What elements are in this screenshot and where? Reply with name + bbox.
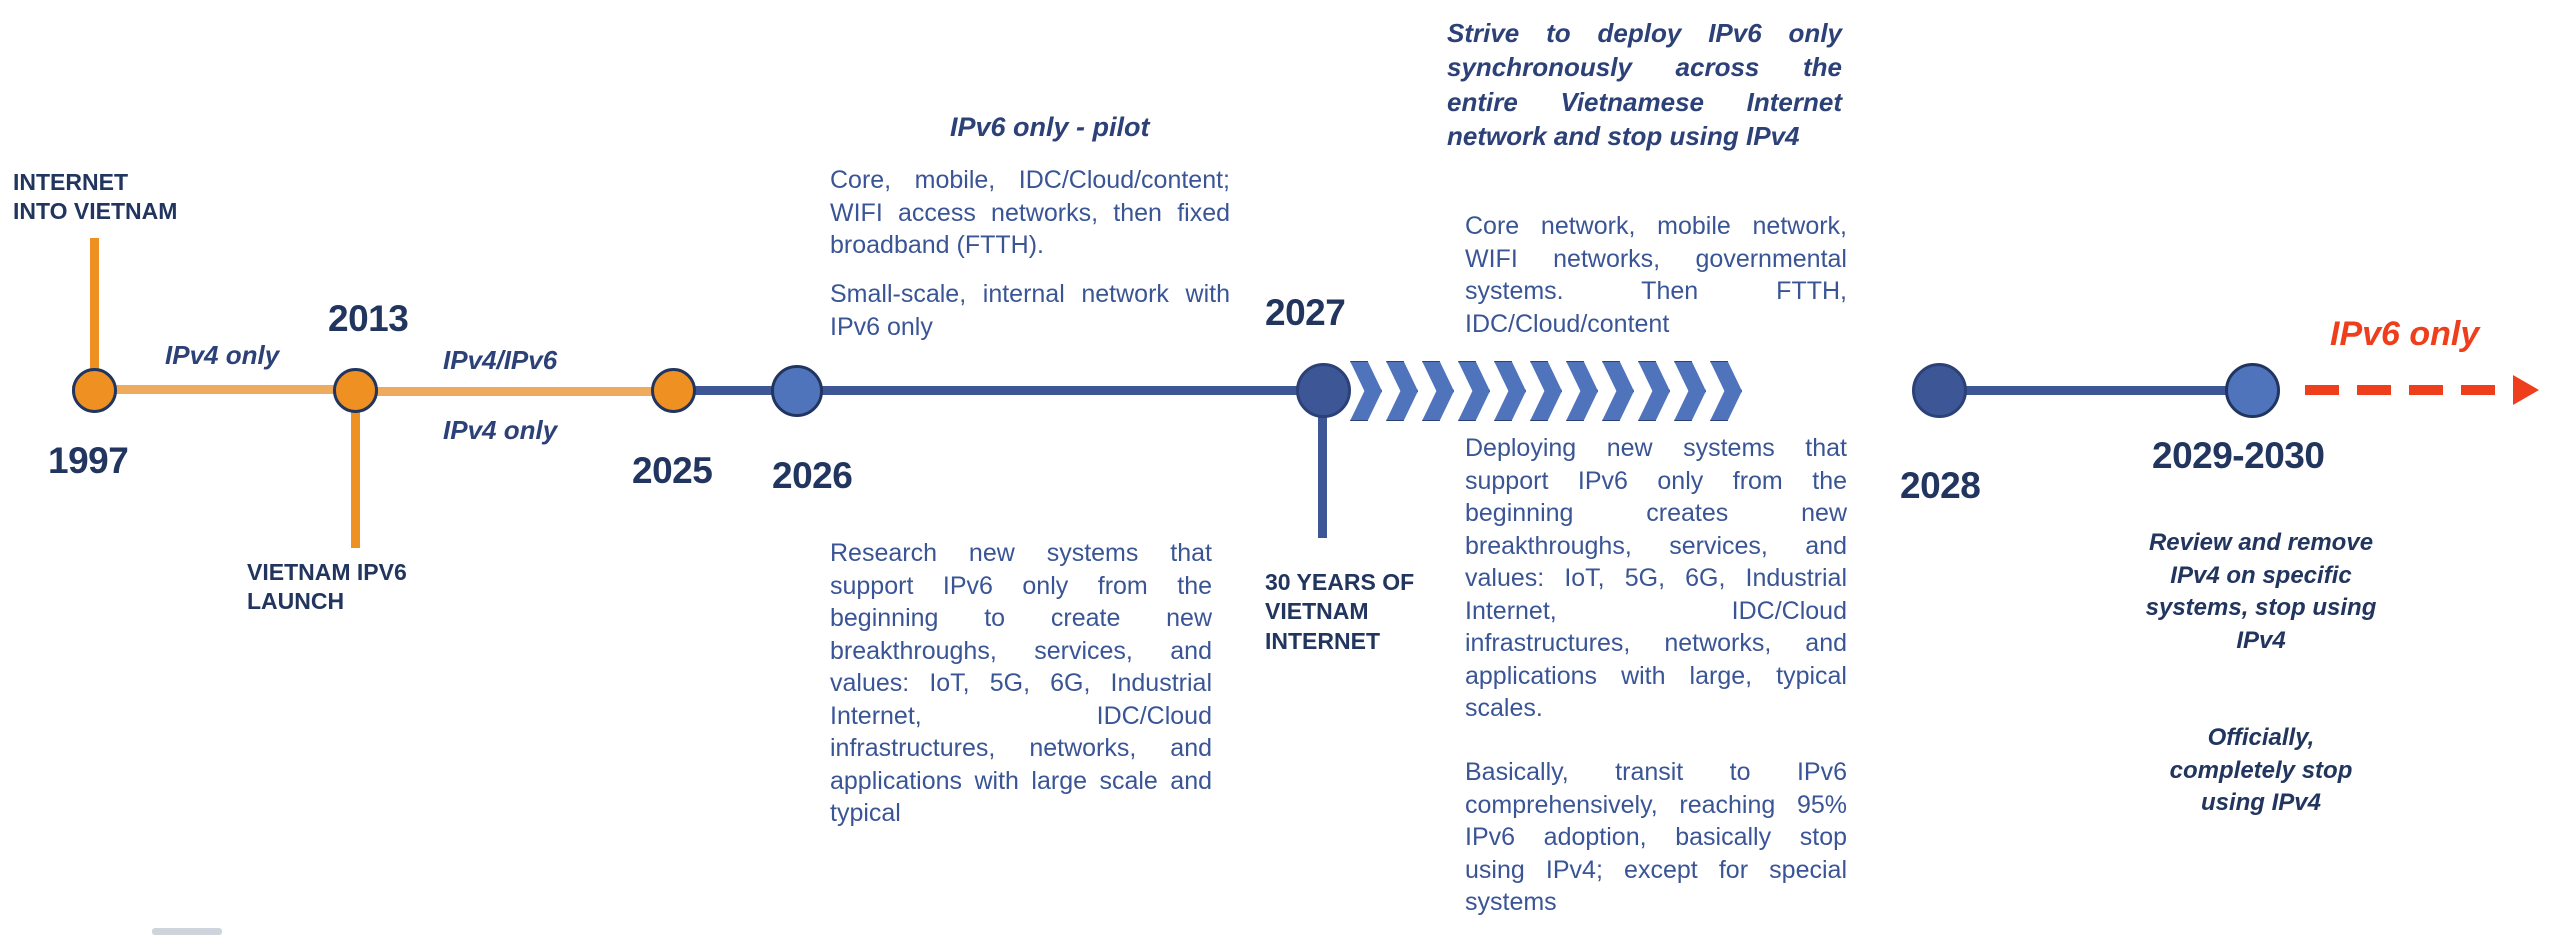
rail-label-ipv4-ipv6: IPv4/IPv6 [443,345,557,376]
rail-2026-2027 [790,386,1330,395]
node-2027[interactable] [1296,363,1351,418]
node-2029-2030[interactable] [2225,363,2280,418]
year-label-2029-2030: 2029-2030 [2152,435,2324,477]
chevron-arrow-icon [1458,361,1490,421]
rail-label-ipv4-only-left: IPv4 only [165,340,279,371]
year-label-2027: 2027 [1265,292,1345,334]
year-label-2025: 2025 [632,450,712,492]
chevron-arrow-icon [1386,361,1418,421]
year-label-2013: 2013 [328,298,408,340]
chevron-arrow-icon [1530,361,1562,421]
chevron-arrow-icon [1494,361,1526,421]
pilot-block-paragraph-1: Core, mobile, IDC/Cloud/content; WIFI ac… [830,164,1230,262]
year-label-1997: 1997 [48,440,128,482]
rail-2028-2029 [1960,386,2250,395]
year-label-2028: 2028 [1900,465,1980,507]
y2027-paragraph-2: Deploying new systems that support IPv6 … [1465,432,1847,725]
node-2025[interactable] [651,368,696,413]
dashed-arrow-icon [2305,375,2539,405]
node-2013[interactable] [333,368,378,413]
node-2028[interactable] [1912,363,1967,418]
rail-label-ipv4-only-right: IPv4 only [443,415,557,446]
callout-vietnam-ipv6-launch: VIETNAM IPV6 LAUNCH [247,558,547,617]
callout-30-years-vietnam-internet: 30 YEARS OF VIETNAM INTERNET [1265,568,1485,656]
rail-2013-2025 [352,387,682,396]
pilot-block-paragraph-2: Small-scale, internal network with IPv6 … [830,278,1230,343]
chevron-arrow-icon [1710,361,1742,421]
chevron-arrow-icon [1350,361,1382,421]
y2029-paragraph-2: Officially, completely stop using IPv4 [2150,722,2372,820]
chevron-arrow-band [1350,361,1746,421]
y2027-heading: Strive to deploy IPv6 only synchronously… [1447,16,1842,153]
chevron-arrow-icon [1674,361,1706,421]
y2026-paragraph: Research new systems that support IPv6 o… [830,537,1212,830]
chevron-arrow-icon [1602,361,1634,421]
callout-internet-into-vietnam: INTERNET INTO VIETNAM [13,168,313,227]
y2029-paragraph-1: Review and remove IPv4 on specific syste… [2130,527,2392,658]
y2027-paragraph-1: Core network, mobile network, WIFI netwo… [1465,210,1847,340]
bottom-edge-artifact [152,928,222,935]
chevron-arrow-icon [1566,361,1598,421]
rail-label-ipv6-only-end: IPv6 only [2330,315,2479,354]
pilot-block-title: IPv6 only - pilot [950,112,1150,143]
timeline-infographic: IPv4 only IPv4/IPv6 IPv4 only IPv6 only … [0,0,2560,935]
node-1997[interactable] [72,368,117,413]
chevron-arrow-icon [1422,361,1454,421]
chevron-arrow-icon [1638,361,1670,421]
rail-1997-2013 [72,385,372,394]
year-label-2026: 2026 [772,455,852,497]
y2027-paragraph-3: Basically, transit to IPv6 comprehensive… [1465,756,1847,919]
node-2026[interactable] [771,365,823,417]
